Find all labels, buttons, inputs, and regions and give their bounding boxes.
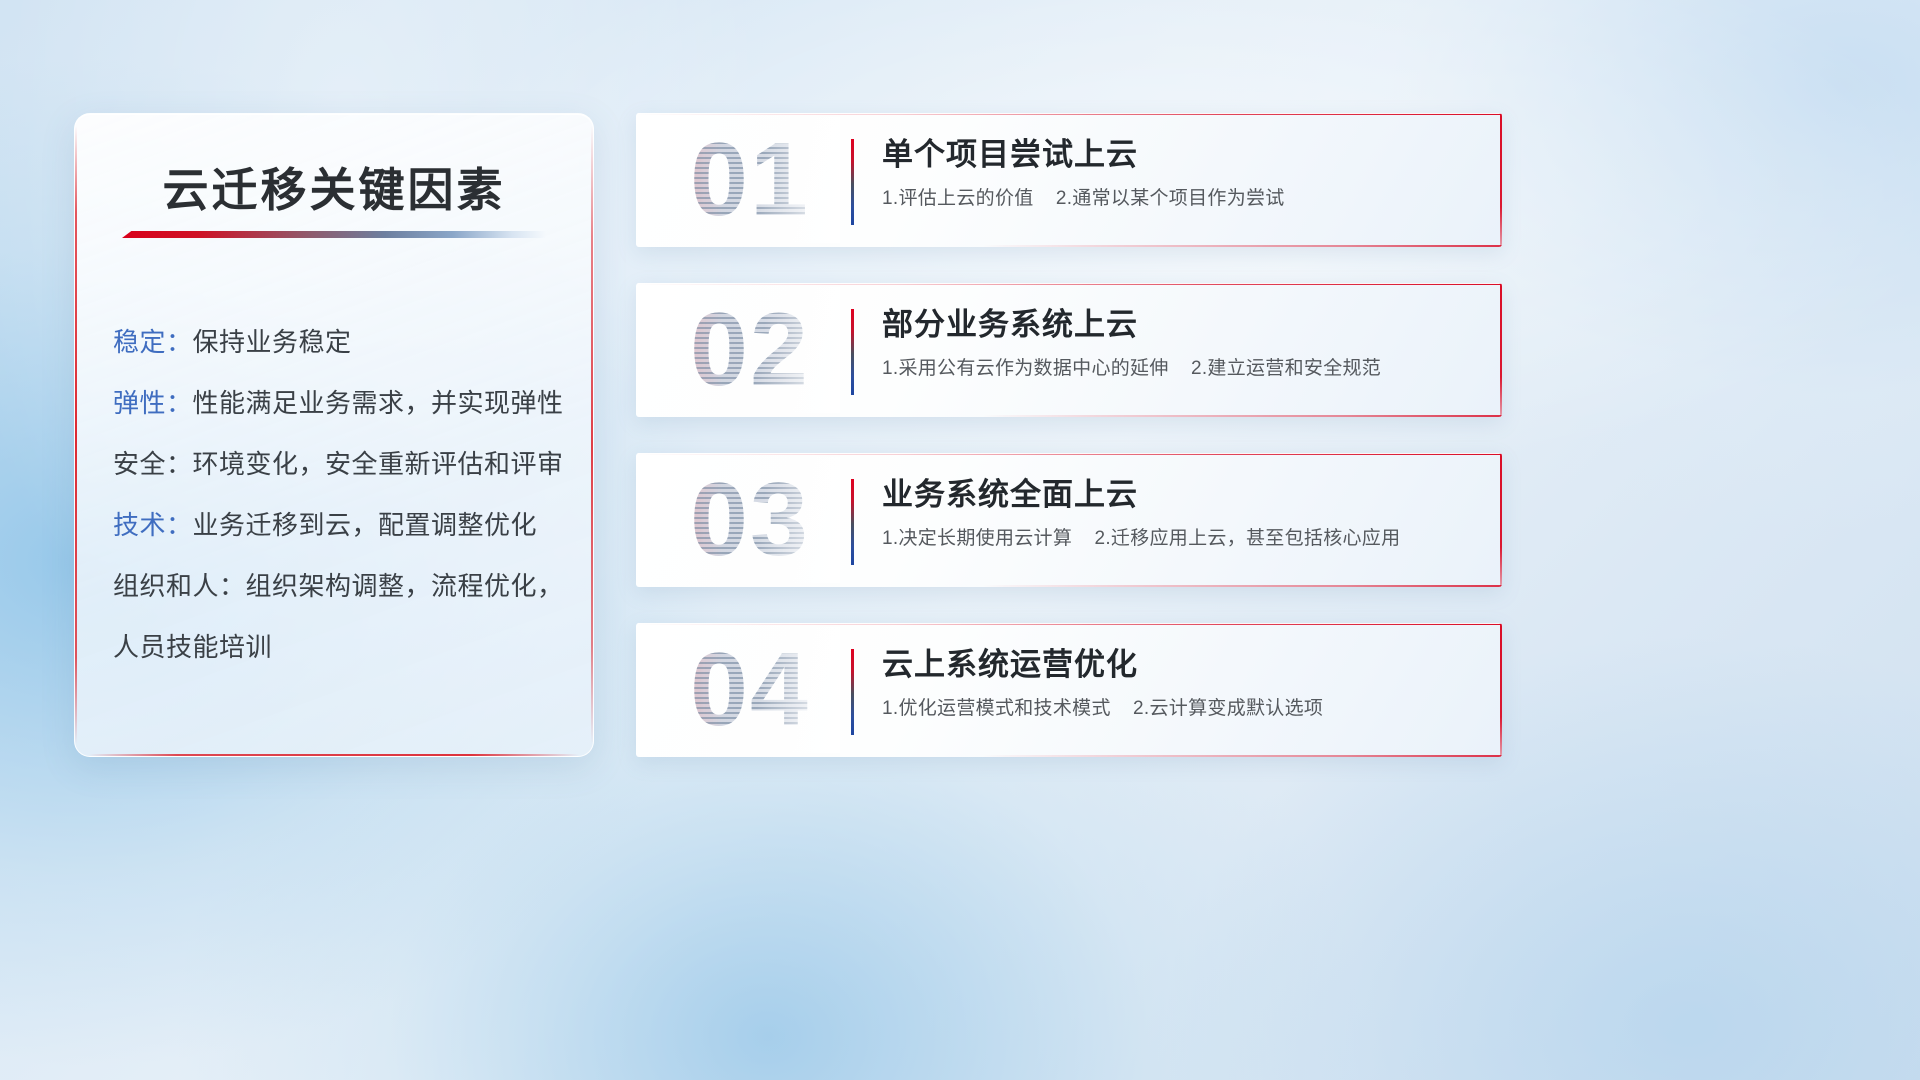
panel-title: 云迁移关键因素 xyxy=(75,154,593,220)
list-item-value: 组织架构调整，流程优化， xyxy=(246,571,564,601)
key-factors-list: 稳定：保持业务稳定 弹性：性能满足业务需求，并实现弹性 安全：环境变化，安全重新… xyxy=(113,312,567,678)
card-right-accent xyxy=(1500,283,1502,417)
stage-description: 1.优化运营模式和技术模式 2.云计算变成默认选项 xyxy=(882,695,1474,723)
list-item-value: 性能满足业务需求，并实现弹性 xyxy=(193,388,564,418)
list-item-value: 人员技能培训 xyxy=(113,632,272,662)
slide-canvas: 云迁移关键因素 稳定：保持业务稳定 弹性：性能满足业务需求，并实现弹性 安全：环… xyxy=(0,0,1920,1080)
title-underline-gradient xyxy=(122,231,546,238)
panel-bottom-accent-rail xyxy=(89,754,579,756)
card-top-accent xyxy=(636,283,1502,285)
stage-card[interactable]: 02 部分业务系统上云 1.采用公有云作为数据中心的延伸 2.建立运营和安全规范 xyxy=(636,283,1502,417)
stage-card-body: 云上系统运营优化 1.优化运营模式和技术模式 2.云计算变成默认选项 xyxy=(882,645,1474,723)
stage-card-body: 单个项目尝试上云 1.评估上云的价值 2.通常以某个项目作为尝试 xyxy=(882,135,1474,213)
stage-description: 1.决定长期使用云计算 2.迁移应用上云，甚至包括核心应用 xyxy=(882,525,1474,553)
list-item: 技术：业务迁移到云，配置调整优化 xyxy=(113,495,567,556)
stage-number: 03 xyxy=(660,457,840,583)
list-item: 弹性：性能满足业务需求，并实现弹性 xyxy=(113,373,567,434)
stage-number: 02 xyxy=(660,287,840,413)
stage-divider-bar xyxy=(851,309,854,395)
list-item-key: 组织和人： xyxy=(113,571,246,601)
stage-card[interactable]: 03 业务系统全面上云 1.决定长期使用云计算 2.迁移应用上云，甚至包括核心应… xyxy=(636,453,1502,587)
stage-card-body: 业务系统全面上云 1.决定长期使用云计算 2.迁移应用上云，甚至包括核心应用 xyxy=(882,475,1474,553)
card-right-accent xyxy=(1500,453,1502,587)
stage-card-list: 01 单个项目尝试上云 1.评估上云的价值 2.通常以某个项目作为尝试 02 部… xyxy=(636,113,1502,793)
card-bottom-accent xyxy=(982,245,1502,247)
stage-title: 部分业务系统上云 xyxy=(882,305,1474,345)
stage-divider-bar xyxy=(851,479,854,565)
card-right-accent xyxy=(1500,623,1502,757)
list-item-value: 保持业务稳定 xyxy=(193,327,352,357)
card-bottom-accent xyxy=(982,585,1502,587)
list-item-key: 安全： xyxy=(113,449,193,479)
list-item-value: 业务迁移到云，配置调整优化 xyxy=(193,510,538,540)
stage-card-body: 部分业务系统上云 1.采用公有云作为数据中心的延伸 2.建立运营和安全规范 xyxy=(882,305,1474,383)
list-item: 安全：环境变化，安全重新评估和评审 xyxy=(113,434,567,495)
stage-description: 1.评估上云的价值 2.通常以某个项目作为尝试 xyxy=(882,185,1474,213)
list-item-value: 环境变化，安全重新评估和评审 xyxy=(193,449,564,479)
stage-number: 01 xyxy=(660,117,840,243)
list-item-key: 弹性： xyxy=(113,388,193,418)
card-bottom-accent xyxy=(982,755,1502,757)
stage-card[interactable]: 01 单个项目尝试上云 1.评估上云的价值 2.通常以某个项目作为尝试 xyxy=(636,113,1502,247)
list-item: 稳定：保持业务稳定 xyxy=(113,312,567,373)
card-bottom-accent xyxy=(982,415,1502,417)
list-item-key: 稳定： xyxy=(113,327,193,357)
stage-divider-bar xyxy=(851,649,854,735)
list-item: 组织和人：组织架构调整，流程优化， xyxy=(113,556,567,617)
stage-description: 1.采用公有云作为数据中心的延伸 2.建立运营和安全规范 xyxy=(882,355,1474,383)
card-top-accent xyxy=(636,453,1502,455)
key-factors-panel: 云迁移关键因素 稳定：保持业务稳定 弹性：性能满足业务需求，并实现弹性 安全：环… xyxy=(74,113,594,757)
stage-number: 04 xyxy=(660,627,840,753)
card-top-accent xyxy=(636,113,1502,115)
card-top-accent xyxy=(636,623,1502,625)
card-right-accent xyxy=(1500,113,1502,247)
stage-divider-bar xyxy=(851,139,854,225)
stage-card[interactable]: 04 云上系统运营优化 1.优化运营模式和技术模式 2.云计算变成默认选项 xyxy=(636,623,1502,757)
list-item-key: 技术： xyxy=(113,510,193,540)
stage-title: 单个项目尝试上云 xyxy=(882,135,1474,175)
list-item: 人员技能培训 xyxy=(113,617,567,678)
stage-title: 云上系统运营优化 xyxy=(882,645,1474,685)
stage-title: 业务系统全面上云 xyxy=(882,475,1474,515)
